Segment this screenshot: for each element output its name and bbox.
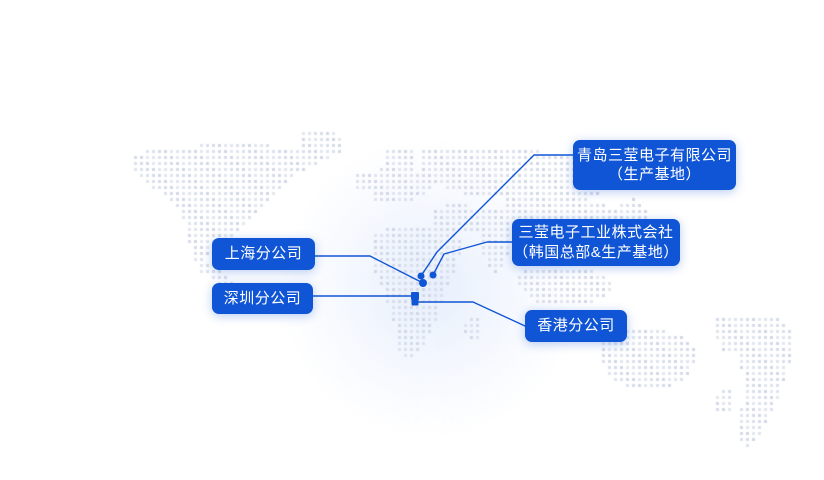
- label-qingdao-line-2: （生产基地）: [608, 165, 701, 184]
- label-shanghai-line-1: 上海分公司: [225, 244, 303, 263]
- label-qingdao[interactable]: 青岛三莹电子有限公司（生产基地）: [573, 140, 736, 190]
- label-korea-hq-line-1: 三莹电子工业株式会社: [518, 223, 673, 242]
- label-hongkong[interactable]: 香港分公司: [525, 310, 627, 342]
- dotted-world-map: [0, 0, 824, 480]
- label-shanghai[interactable]: 上海分公司: [212, 238, 315, 270]
- label-korea-hq[interactable]: 三莹电子工业株式会社（韩国总部&生产基地）: [512, 219, 680, 266]
- site-marker-hongkong[interactable]: [412, 299, 419, 306]
- label-korea-hq-line-2: （韩国总部&生产基地）: [513, 243, 679, 262]
- label-qingdao-line-1: 青岛三莹电子有限公司: [577, 146, 732, 165]
- label-hongkong-line-1: 香港分公司: [537, 316, 615, 335]
- site-marker-korea[interactable]: [430, 272, 437, 279]
- world-map-dots: [0, 0, 824, 480]
- label-shenzhen-line-1: 深圳分公司: [224, 289, 302, 308]
- site-marker-shanghai[interactable]: [419, 279, 427, 287]
- label-shenzhen[interactable]: 深圳分公司: [212, 283, 313, 314]
- world-map-infographic: 青岛三莹电子有限公司（生产基地）三莹电子工业株式会社（韩国总部&生产基地）上海分…: [0, 0, 824, 480]
